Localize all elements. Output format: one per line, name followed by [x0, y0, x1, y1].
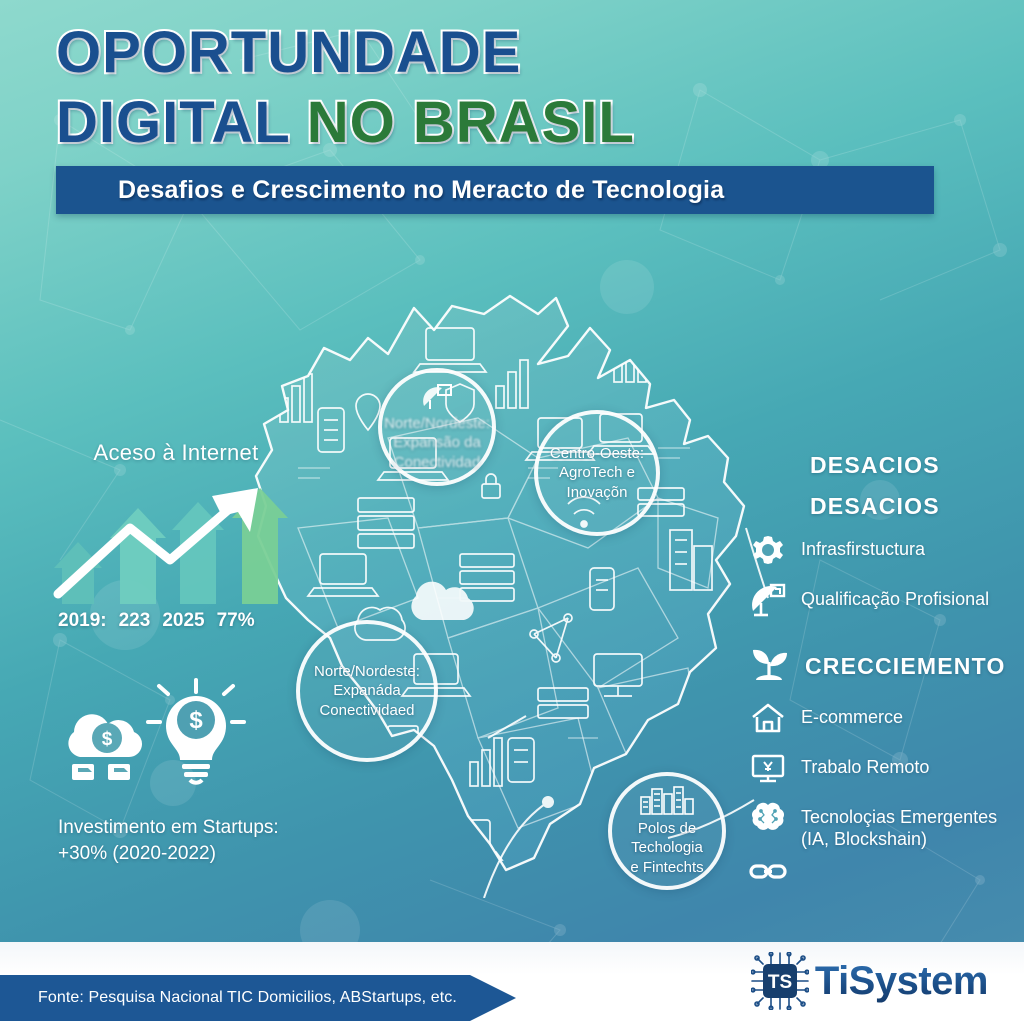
- growth-heading-row: CRECCIEMENTO: [748, 644, 1018, 688]
- source-text: Fonte: Pesquisa Nacional TIC Domicilios,…: [38, 989, 457, 1007]
- infographic-canvas: OPORTUNDADE DIGITAL NO BRASIL Desafios e…: [0, 0, 1024, 1024]
- challenges-heading-2: DESACIOS: [810, 493, 1018, 520]
- investment-text: Investimento em Startups: +30% (2020-202…: [58, 815, 306, 866]
- tick-label: 2019:: [58, 610, 107, 632]
- growth-label-line-1: Tecnoloçias Emergentes: [801, 807, 997, 827]
- chart-x-tick-labels: 2019: 223 2025 77%: [58, 610, 306, 632]
- callout-text: Norte/Nordeste: Expansão da Conectividad: [376, 414, 498, 473]
- bar-223: [110, 508, 166, 604]
- source-banner: Fonte: Pesquisa Nacional TIC Domicilios,…: [0, 975, 516, 1021]
- subtitle-bar: Desafios e Crescimento no Meracto de Tec…: [56, 166, 934, 214]
- footer-bar: Fonte: Pesquisa Nacional TIC Domicilios,…: [0, 942, 1024, 1024]
- lightbulb-dollar-icon: $: [148, 680, 244, 783]
- investment-line-1: Investimento em Startups:: [58, 815, 306, 841]
- investment-icons: $ $: [60, 676, 284, 794]
- challenge-item-infrastructure[interactable]: Infrasfirstuctura: [748, 530, 1018, 570]
- internet-access-bar-chart: [52, 482, 304, 604]
- callout-norte-nordeste-top[interactable]: Norte/Nordeste: Expansão da Conectividad: [378, 368, 496, 486]
- callout-text: Centro-Oeste: AgroTech e Inovaçõn: [542, 444, 652, 503]
- challenges-heading-1: DESACIOS: [810, 452, 1018, 479]
- investment-line-2: +30% (2020-2022): [58, 841, 306, 867]
- growth-label: Trabalo Remoto: [801, 748, 929, 778]
- title-word-digital: DIGITAL: [56, 90, 290, 155]
- growth-item-emerging-tech[interactable]: Tecnoloçias Emergentes (IA, Blockshain): [748, 798, 1018, 851]
- brain-icon: [748, 798, 788, 838]
- growth-label: Tecnoloçias Emergentes (IA, Blockshain): [801, 798, 997, 851]
- microchip-icon: TS: [751, 952, 809, 1010]
- growth-item-remote-work[interactable]: Trabalo Remoto: [748, 748, 1018, 788]
- city-skyline-icon: [639, 785, 695, 815]
- growth-item-ecommerce[interactable]: E-commerce: [748, 698, 1018, 738]
- growth-item-blockchain[interactable]: [748, 851, 1018, 891]
- tick-label: 2025: [162, 610, 204, 632]
- callout-text: Norte/Nordeste: Expanáda Conectividaed: [306, 662, 428, 721]
- subtitle-text: Desafios e Crescimento no Meracto de Tec…: [118, 176, 724, 205]
- house-icon: [748, 698, 788, 738]
- satellite-dish-icon: [420, 382, 454, 410]
- challenge-label: Qualificação Profisional: [801, 580, 989, 610]
- money-cloud-icon: $: [68, 714, 142, 780]
- chain-link-icon: [748, 851, 788, 891]
- chart-title: Aceso à Internet: [46, 440, 306, 466]
- title-line-1: OPORTUNDADE: [56, 24, 956, 82]
- gear-icon: [748, 530, 788, 570]
- tisystem-logo[interactable]: TS TiSystem: [751, 952, 988, 1010]
- tick-label: 223: [119, 610, 151, 632]
- left-stats-panel: Aceso à Internet 2019: 223 2025 77%: [46, 440, 306, 866]
- monitor-icon: [748, 748, 788, 788]
- satellite-dish-icon: [748, 580, 788, 620]
- growth-label: E-commerce: [801, 698, 903, 728]
- title-line-2: DIGITAL NO BRASIL: [56, 94, 956, 152]
- growth-heading: CRECCIEMENTO: [805, 653, 1006, 680]
- logo-monogram: TS: [768, 972, 792, 993]
- callout-norte-nordeste[interactable]: Norte/Nordeste: Expanáda Conectividaed: [296, 620, 438, 762]
- callout-centro-oeste[interactable]: Centro-Oeste: AgroTech e Inovaçõn: [534, 410, 660, 536]
- title-word-no-brasil: NO BRASIL: [307, 90, 635, 155]
- svg-text:$: $: [102, 729, 113, 750]
- right-lists-panel: DESACIOS DESACIOS Infrasfirstuctura: [748, 452, 1018, 891]
- svg-text:$: $: [189, 707, 203, 734]
- growth-label-line-2: (IA, Blockshain): [801, 829, 927, 849]
- sprout-icon: [748, 644, 792, 688]
- tick-label: 77%: [217, 610, 255, 632]
- callout-text: Polos de Techologia e Fintechts: [622, 819, 711, 878]
- challenge-label: Infrasfirstuctura: [801, 530, 925, 560]
- challenge-item-qualification[interactable]: Qualificação Profisional: [748, 580, 1018, 620]
- logo-wordmark: TiSystem: [815, 959, 988, 1004]
- callout-polos[interactable]: Polos de Techologia e Fintechts: [608, 772, 726, 890]
- page-title: OPORTUNDADE DIGITAL NO BRASIL: [56, 24, 956, 152]
